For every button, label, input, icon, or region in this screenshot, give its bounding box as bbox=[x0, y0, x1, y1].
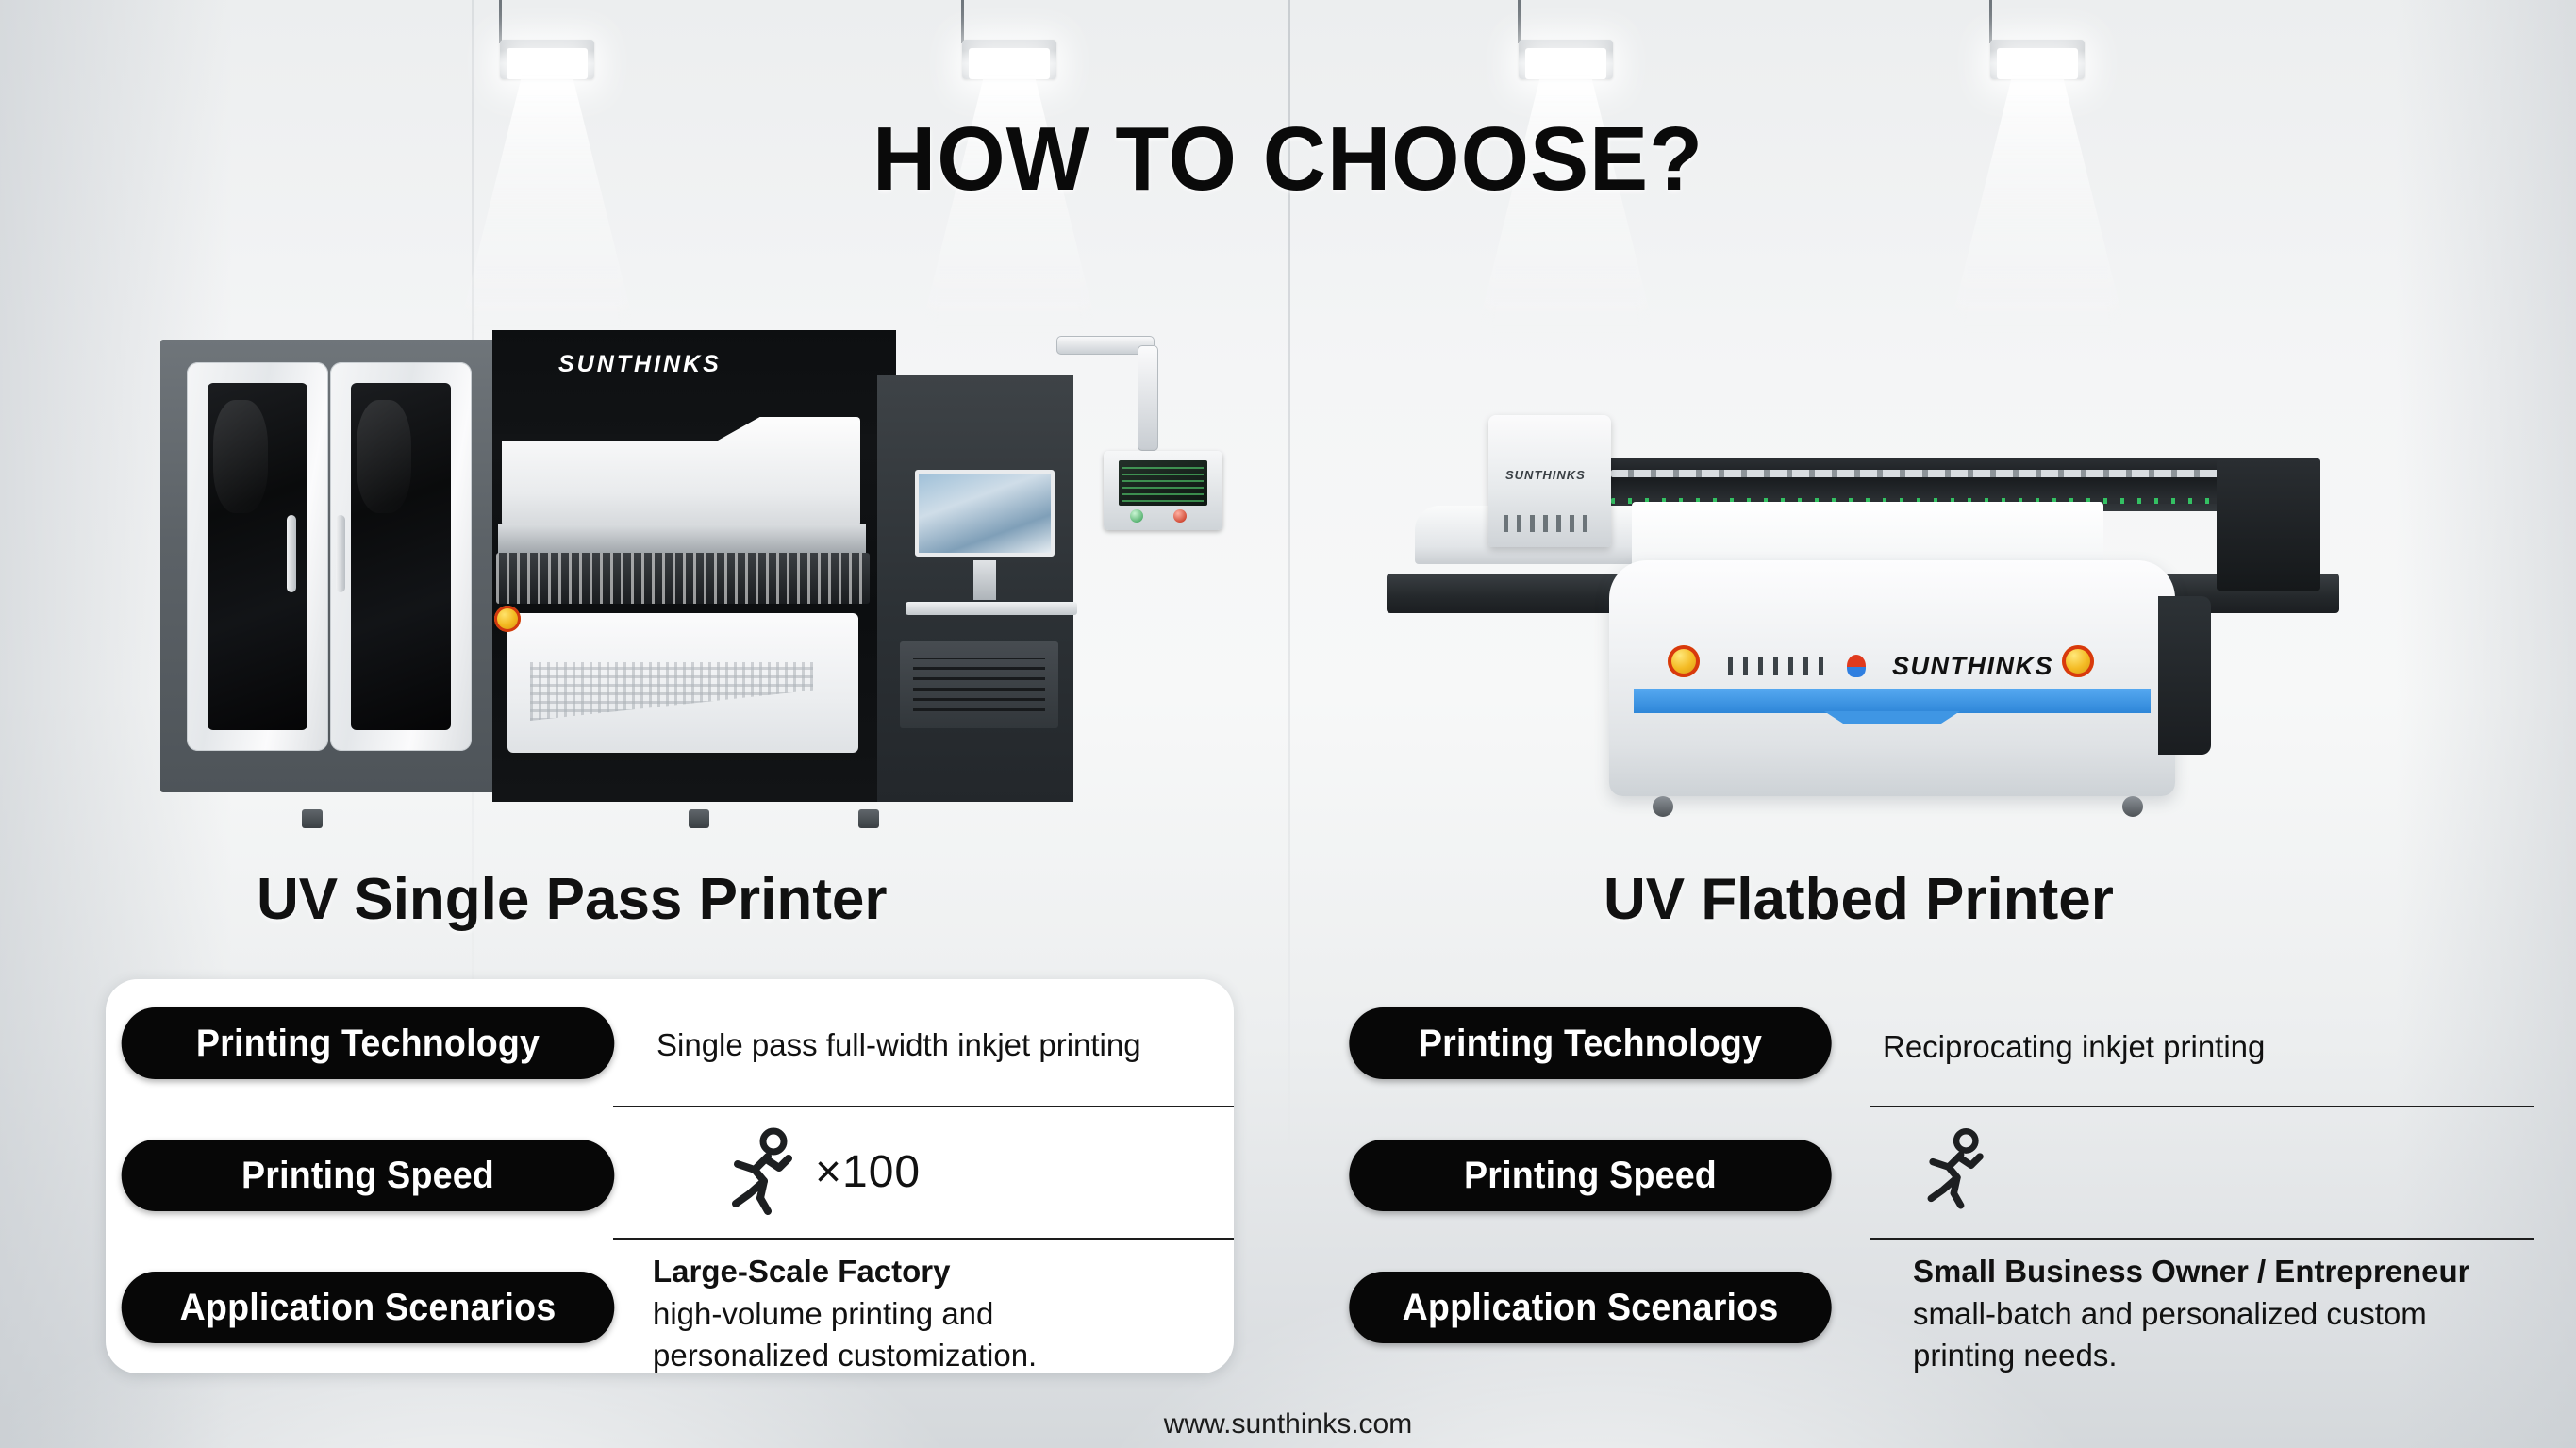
right-value-printing-technology: Reciprocating inkjet printing bbox=[1883, 1026, 2265, 1069]
right-spec-row-application: Application Scenarios bbox=[1334, 1272, 1847, 1343]
left-application-value-block: Large-Scale Factory high-volume printing… bbox=[653, 1251, 1037, 1377]
left-value-printing-technology: Single pass full-width inkjet printing bbox=[656, 1024, 1141, 1067]
footer-website-url[interactable]: www.sunthinks.com bbox=[0, 1408, 2576, 1440]
left-application-headline: Large-Scale Factory bbox=[653, 1251, 1037, 1293]
left-speed-multiplier: ×100 bbox=[815, 1146, 921, 1198]
right-application-value-block: Small Business Owner / Entrepreneur smal… bbox=[1913, 1251, 2470, 1377]
right-divider-1 bbox=[1870, 1106, 2534, 1107]
left-spec-row-speed: Printing Speed bbox=[106, 1140, 630, 1211]
left-speed-indicator: ×100 bbox=[726, 1126, 921, 1217]
left-label-application-scenarios[interactable]: Application Scenarios bbox=[122, 1272, 615, 1343]
left-spec-column: Printing Technology Single pass full-wid… bbox=[0, 0, 1288, 1448]
right-speed-indicator bbox=[1922, 1126, 2005, 1211]
left-spec-row-technology: Printing Technology Single pass full-wid… bbox=[106, 1007, 1141, 1079]
right-label-printing-technology[interactable]: Printing Technology bbox=[1349, 1007, 1831, 1079]
right-application-line-2: small-batch and personalized custom bbox=[1913, 1293, 2470, 1336]
right-application-headline: Small Business Owner / Entrepreneur bbox=[1913, 1251, 2470, 1293]
left-label-printing-technology[interactable]: Printing Technology bbox=[122, 1007, 615, 1079]
right-application-line-3: printing needs. bbox=[1913, 1335, 2470, 1377]
left-spec-row-application: Application Scenarios bbox=[106, 1272, 630, 1343]
right-spec-column: Printing Technology Reciprocating inkjet… bbox=[1288, 0, 2576, 1448]
right-label-printing-speed[interactable]: Printing Speed bbox=[1349, 1140, 1831, 1211]
left-divider-1 bbox=[613, 1106, 1234, 1107]
running-person-icon bbox=[1922, 1126, 1992, 1211]
left-divider-2 bbox=[613, 1238, 1234, 1240]
right-spec-row-speed: Printing Speed bbox=[1334, 1140, 1847, 1211]
running-person-icon bbox=[726, 1126, 802, 1217]
left-application-line-3: personalized customization. bbox=[653, 1335, 1037, 1377]
right-divider-2 bbox=[1870, 1238, 2534, 1240]
right-spec-row-technology-real: Printing Technology Reciprocating inkjet… bbox=[1334, 1007, 2265, 1079]
left-label-printing-speed[interactable]: Printing Speed bbox=[122, 1140, 615, 1211]
left-application-line-2: high-volume printing and bbox=[653, 1293, 1037, 1336]
right-label-application-scenarios[interactable]: Application Scenarios bbox=[1349, 1272, 1831, 1343]
